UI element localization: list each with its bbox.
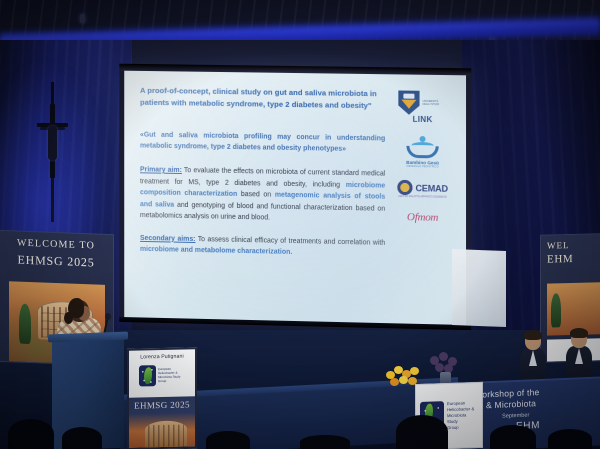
ofmom-logo: Ofmom: [395, 211, 450, 224]
ofmom-label: Ofmom: [407, 211, 438, 224]
conference-hall-scene: A proof-of-concept, clinical study on gu…: [0, 0, 600, 449]
cypress-tree-icon: [551, 293, 561, 327]
podium-sign-event-label: EHMSG 2025: [129, 396, 195, 410]
cemad-sub: CENTRO MALATTIE APPARATO DIGERENTE: [398, 196, 447, 200]
bambino-gesu-logo: Bambino Gesù OSPEDALE PEDIATRICO: [395, 136, 450, 169]
bambino-gesu-icon: [405, 136, 439, 159]
shield-icon: [398, 90, 419, 114]
welcome-banner-left-line1: WELCOME TO: [0, 237, 113, 252]
presentation-slide: A proof-of-concept, clinical study on gu…: [124, 71, 466, 325]
welcome-banner-right-line1: WEL: [547, 239, 600, 250]
cemad-logo: CEMAD CENTRO MALATTIE APPARATO DIGERENTE: [395, 180, 450, 200]
microphone-icon: [105, 313, 111, 320]
audience-silhouette: [490, 425, 536, 449]
slide-quote: «Gut and saliva microbiota profiling may…: [140, 129, 385, 155]
slide-sponsor-logos: UNIVERSITÀ DEGLI STUDI LINK Bambino Gesù…: [391, 88, 454, 316]
cypress-tree-icon: [19, 304, 31, 344]
secondary-aims-highlight-1: microbiome and metabolome characterizati…: [140, 246, 292, 256]
podium-name-sign: Lorenza Putignani European Helicobacter …: [127, 347, 197, 449]
secondary-aims-paragraph: Secondary aims: To assess clinical effic…: [140, 233, 385, 261]
primary-aim-text-2: based on: [237, 191, 275, 199]
link-university-logo: UNIVERSITÀ DEGLI STUDI LINK: [395, 90, 450, 124]
ehmsg-logo-text: European Helicobacter & Microbiota Study…: [158, 366, 185, 383]
cemad-seal-icon: [397, 180, 412, 195]
ehmsg-card-text: European Helicobacter & Microbiota Study…: [447, 400, 474, 431]
lectern-top: [48, 332, 128, 343]
projection-screen: A proof-of-concept, clinical study on gu…: [119, 64, 471, 330]
secondary-aims-text-1: To assess clinical efficacy of treatment…: [195, 236, 385, 247]
primary-aim-text-3: and genotyping of blood and functional c…: [140, 201, 385, 221]
welcome-banner-left-line2: EHMSG 2025: [0, 252, 113, 271]
secondary-aims-label: Secondary aims:: [140, 235, 195, 243]
audience-silhouette: [62, 427, 102, 449]
primary-aim-label: Primary aim:: [140, 166, 182, 174]
ehmsg-card-line5: Group: [447, 424, 474, 431]
cemad-label: CEMAD: [415, 183, 447, 194]
link-university-label: LINK: [413, 115, 433, 124]
speaker-hair-bun: [64, 312, 73, 324]
audience-silhouette: [206, 431, 250, 449]
link-university-sub: UNIVERSITÀ DEGLI STUDI: [423, 100, 447, 107]
audience-silhouette: [548, 429, 592, 449]
primary-aim-paragraph: Primary aim: To evaluate the effects on …: [140, 164, 385, 226]
ceiling-spotlight: [80, 14, 85, 23]
audience-silhouette: [300, 435, 350, 449]
panelist-1: [520, 332, 546, 382]
podium-sign-event-band: EHMSG 2025: [129, 396, 195, 449]
colosseum-icon: [145, 420, 187, 449]
welcome-banner-right-line2: EHM: [547, 252, 600, 265]
ehmsg-logo-small: European Helicobacter & Microbiota Study…: [139, 363, 185, 388]
audience-silhouette: [396, 415, 448, 449]
bambino-gesu-sub: OSPEDALE PEDIATRICO: [406, 165, 438, 169]
helicobacter-icon: [139, 365, 156, 386]
panelist-2: [566, 330, 594, 382]
colosseum-photo-right: [547, 282, 600, 335]
slide-text-column: A proof-of-concept, clinical study on gu…: [140, 85, 385, 315]
speaker-name-label: Lorenza Putignani: [129, 353, 195, 360]
crucifix-icon: [36, 82, 70, 222]
slide-title: A proof-of-concept, clinical study on gu…: [140, 85, 385, 112]
secondary-display: [452, 249, 506, 327]
audience-silhouette: [8, 419, 54, 449]
